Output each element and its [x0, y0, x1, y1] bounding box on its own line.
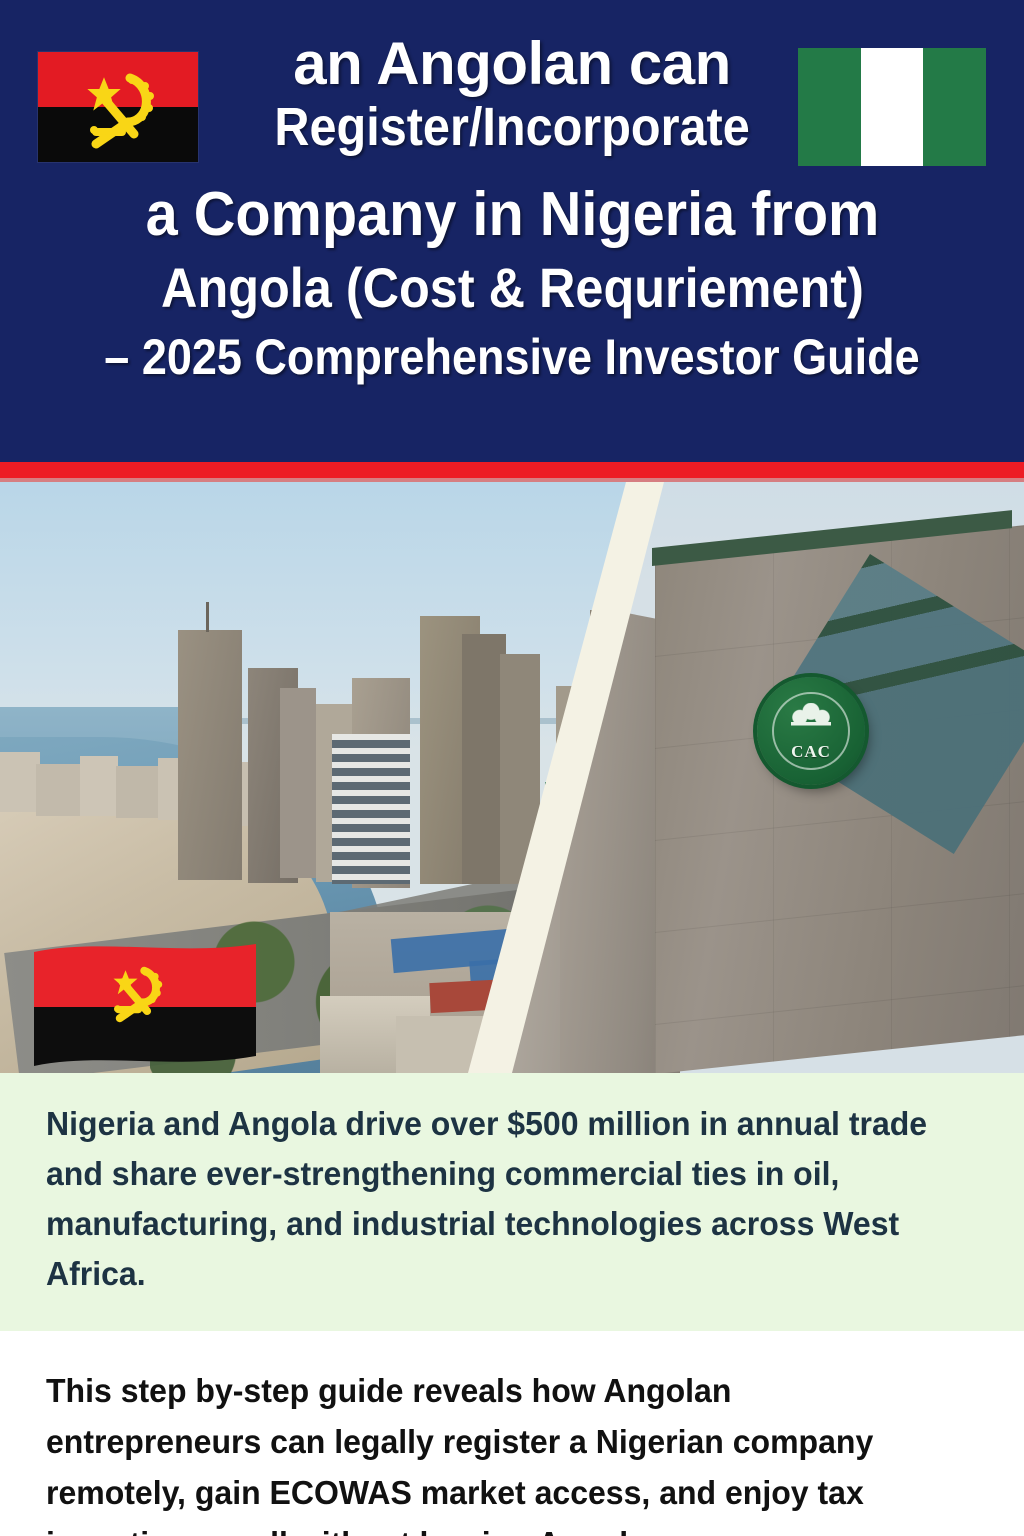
page-title: an Angolan can Register/Incorporate a Co…	[0, 0, 1024, 462]
photo-band: CAC	[0, 482, 1024, 1073]
header-banner: an Angolan can Register/Incorporate a Co…	[0, 0, 1024, 462]
highlight-note-box: Nigeria and Angola drive over $500 milli…	[0, 1073, 1024, 1331]
title-line-4: Angola (Cost & Requriement)	[161, 260, 864, 316]
angola-flag-overlay-left	[30, 934, 260, 1073]
title-line-1: an Angolan can	[293, 34, 731, 94]
cac-seal-icon: CAC	[757, 677, 865, 785]
header-accent-rule	[0, 462, 1024, 478]
cac-seal-crest-icon	[791, 703, 831, 729]
title-line-3: a Company in Nigeria from	[145, 184, 879, 246]
cac-seal-label: CAC	[757, 742, 865, 762]
highlight-note-text: Nigeria and Angola drive over $500 milli…	[46, 1099, 950, 1300]
body-paragraph-text: This step by-step guide reveals how Ango…	[46, 1365, 950, 1536]
infographic-page: an Angolan can Register/Incorporate a Co…	[0, 0, 1024, 1536]
title-line-2: Register/Incorporate	[274, 100, 749, 154]
body-paragraph-section: This step by-step guide reveals how Ango…	[0, 1331, 1024, 1536]
title-line-5: – 2025 Comprehensive Investor Guide	[104, 332, 919, 382]
